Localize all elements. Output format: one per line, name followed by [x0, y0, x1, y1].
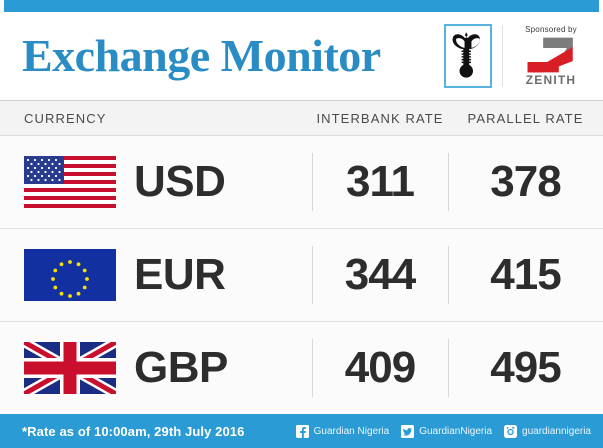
footer: *Rate as of 10:00am, 29th July 2016 Guar… [0, 414, 603, 448]
column-header-interbank-rate: INTERBANK RATE [312, 111, 448, 126]
twitter-icon [401, 425, 414, 438]
table-row: GBP 409 495 [0, 322, 603, 414]
currency-cell: EUR [0, 249, 312, 301]
interbank-rate-value: 409 [345, 346, 415, 390]
header: Exchange Monitor Sponsored by [0, 12, 603, 100]
table-header-row: CURRENCY INTERBANK RATE PARALLEL RATE [0, 100, 603, 136]
instagram-link[interactable]: guardiannigeria [504, 425, 591, 438]
uk-flag-icon [24, 342, 116, 394]
facebook-link[interactable]: Guardian Nigeria [296, 425, 390, 438]
interbank-rate-cell: 409 [312, 322, 448, 414]
column-header-currency: CURRENCY [0, 111, 312, 126]
parallel-rate-value: 378 [490, 160, 560, 204]
brand-area: Sponsored by ZENITH [444, 12, 593, 100]
twitter-handle: GuardianNigeria [419, 426, 492, 437]
instagram-handle: guardiannigeria [522, 426, 591, 437]
zenith-wordmark: ZENITH [526, 73, 577, 87]
currency-code: GBP [134, 346, 228, 390]
exchange-monitor-card: Exchange Monitor Sponsored by [0, 0, 603, 448]
column-header-parallel-rate: PARALLEL RATE [448, 111, 603, 126]
interbank-rate-value: 344 [345, 253, 415, 297]
rate-timestamp-note: *Rate as of 10:00am, 29th July 2016 [22, 424, 244, 439]
parallel-rate-value: 415 [490, 253, 560, 297]
twitter-link[interactable]: GuardianNigeria [401, 425, 492, 438]
parallel-rate-cell: 378 [448, 136, 603, 228]
rates-table-body: USD 311 378 [0, 136, 603, 414]
instagram-icon [504, 425, 517, 438]
table-row: USD 311 378 [0, 136, 603, 229]
currency-code: USD [134, 160, 225, 204]
zenith-z-mark [518, 35, 584, 75]
guardian-nigeria-emblem [444, 24, 492, 88]
interbank-rate-cell: 344 [312, 229, 448, 321]
parallel-rate-value: 495 [490, 346, 560, 390]
page-title: Exchange Monitor [22, 33, 444, 79]
sponsored-by-label: Sponsored by [525, 25, 577, 34]
table-row: EUR 344 415 [0, 229, 603, 322]
us-flag-icon [24, 156, 116, 208]
interbank-rate-cell: 311 [312, 136, 448, 228]
parallel-rate-cell: 415 [448, 229, 603, 321]
currency-code: EUR [134, 253, 225, 297]
eu-flag-icon [24, 249, 116, 301]
facebook-handle: Guardian Nigeria [314, 426, 390, 437]
currency-cell: GBP [0, 342, 312, 394]
interbank-rate-value: 311 [346, 160, 414, 204]
social-links: Guardian Nigeria GuardianNigeria guardia… [296, 425, 591, 438]
parallel-rate-cell: 495 [448, 322, 603, 414]
top-accent-bar [4, 0, 599, 12]
currency-cell: USD [0, 156, 312, 208]
facebook-icon [296, 425, 309, 438]
sponsor-zenith-logo: Sponsored by ZENITH [502, 25, 593, 87]
